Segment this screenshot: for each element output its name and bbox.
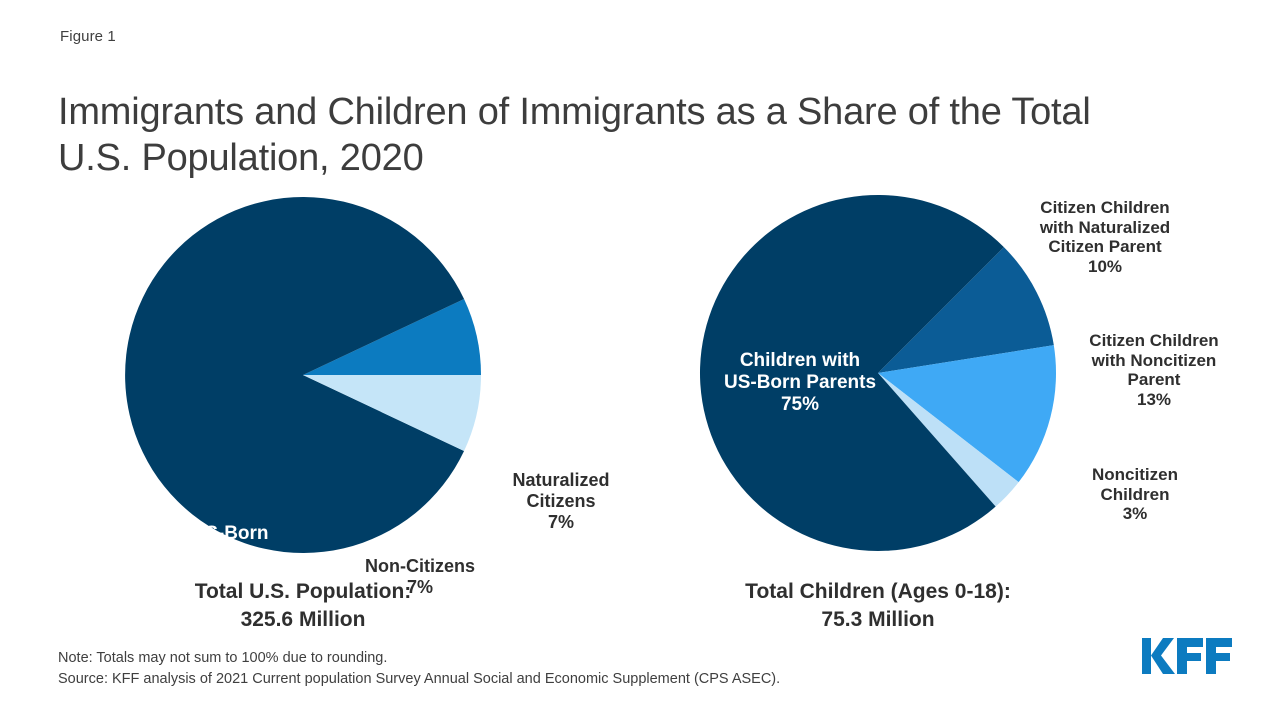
pie-label-noncitizen-children: Noncitizen Children 3%: [1040, 465, 1230, 524]
total-label-children: Total Children (Ages 0-18): 75.3 Million: [688, 578, 1068, 635]
total-label-us-population: Total U.S. Population: 325.6 Million: [113, 578, 493, 635]
figure-label: Figure 1: [60, 28, 116, 45]
page-title: Immigrants and Children of Immigrants as…: [58, 89, 1168, 181]
kff-logo[interactable]: [1141, 636, 1235, 676]
pie-label-citizen-children-naturalized-parent: Citizen Children with Naturalized Citize…: [1010, 198, 1200, 277]
pie-label-children-us-born-parents: Children with US-Born Parents 75%: [695, 350, 905, 416]
pie-label-naturalized-citizens: Naturalized Citizens 7%: [480, 470, 642, 533]
pie-chart-total-population: US-Born Citizens 86% Naturalized Citizen…: [0, 185, 660, 645]
footnote-note: Note: Totals may not sum to 100% due to …: [58, 648, 780, 669]
footnote-source: Source: KFF analysis of 2021 Current pop…: [58, 669, 780, 690]
pie-chart-total-children: Children with US-Born Parents 75% Citize…: [640, 185, 1280, 645]
pie-label-citizen-children-noncitizen-parent: Citizen Children with Noncitizen Parent …: [1055, 331, 1253, 410]
footnotes: Note: Totals may not sum to 100% due to …: [58, 648, 780, 690]
